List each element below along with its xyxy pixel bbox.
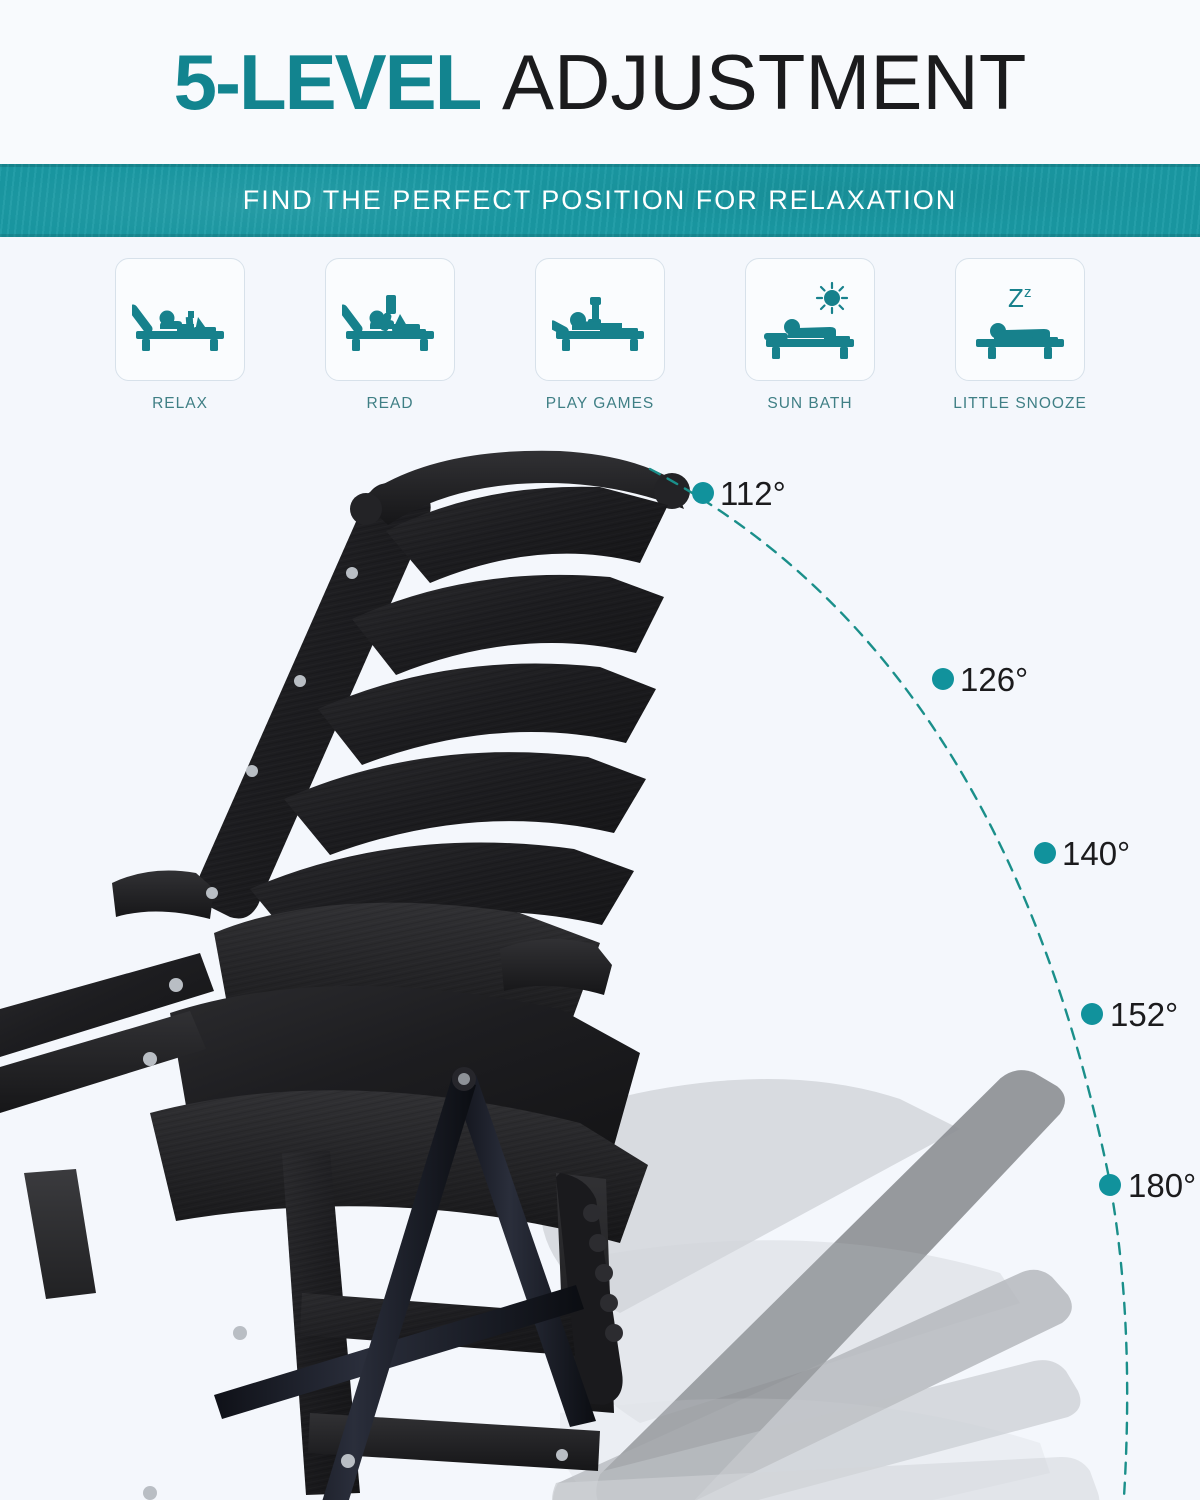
subtitle-band: FIND THE PERFECT POSITION FOR RELAXATION bbox=[0, 164, 1200, 237]
mode-card-relax[interactable] bbox=[115, 258, 245, 381]
svg-text:z: z bbox=[1024, 284, 1032, 301]
mode-icon-row: RELAX bbox=[0, 258, 1200, 413]
chaise-illustration: 112° 126° 140° 152° 180° bbox=[0, 413, 1200, 1500]
angle-dot-180 bbox=[1099, 1174, 1121, 1196]
mode-label-sun-bath: SUN BATH bbox=[767, 395, 852, 413]
person-playing-games-icon bbox=[552, 289, 648, 351]
mode-label-play-games: PLAY GAMES bbox=[546, 395, 655, 413]
person-sunbathing-icon bbox=[762, 281, 858, 359]
angle-label-140: 140° bbox=[1062, 835, 1130, 873]
mode-label-little-snooze: LITTLE SNOOZE bbox=[953, 395, 1087, 413]
angle-label-180: 180° bbox=[1128, 1167, 1196, 1205]
mode-card-read[interactable] bbox=[325, 258, 455, 381]
page-header: 5-LEVEL ADJUSTMENT bbox=[0, 0, 1200, 164]
band-top-edge bbox=[0, 164, 1200, 167]
angle-dot-126 bbox=[932, 668, 954, 690]
mode-item-relax[interactable]: RELAX bbox=[115, 258, 245, 413]
mode-item-read[interactable]: READ bbox=[325, 258, 455, 413]
mode-card-play-games[interactable] bbox=[535, 258, 665, 381]
person-reading-icon bbox=[342, 289, 438, 351]
page-title: 5-LEVEL ADJUSTMENT bbox=[174, 43, 1027, 121]
mode-label-relax: RELAX bbox=[152, 395, 208, 413]
mode-card-sun-bath[interactable] bbox=[745, 258, 875, 381]
page-title-rest: ADJUSTMENT bbox=[502, 38, 1026, 126]
mode-item-sun-bath[interactable]: SUN BATH bbox=[745, 258, 875, 413]
angle-label-126: 126° bbox=[960, 661, 1028, 699]
mode-item-play-games[interactable]: PLAY GAMES bbox=[535, 258, 665, 413]
angle-label-152: 152° bbox=[1110, 996, 1178, 1034]
angle-label-112: 112° bbox=[720, 475, 786, 513]
band-bottom-edge bbox=[0, 234, 1200, 237]
mode-card-little-snooze[interactable]: Z z bbox=[955, 258, 1085, 381]
page-subtitle: FIND THE PERFECT POSITION FOR RELAXATION bbox=[243, 185, 958, 216]
mode-item-little-snooze[interactable]: Z z LITTLE SNOOZE bbox=[955, 258, 1085, 413]
page-title-accent: 5-LEVEL bbox=[174, 38, 481, 126]
chaise-black-body bbox=[0, 451, 690, 1500]
angle-dot-152 bbox=[1081, 1003, 1103, 1025]
chaise-recline-diagram bbox=[0, 413, 1200, 1500]
person-sleeping-icon: Z z bbox=[972, 281, 1068, 359]
angle-dot-112 bbox=[692, 482, 714, 504]
angle-dot-140 bbox=[1034, 842, 1056, 864]
mode-label-read: READ bbox=[366, 395, 413, 413]
person-reclining-icon bbox=[132, 289, 228, 351]
svg-text:Z: Z bbox=[1008, 283, 1024, 313]
